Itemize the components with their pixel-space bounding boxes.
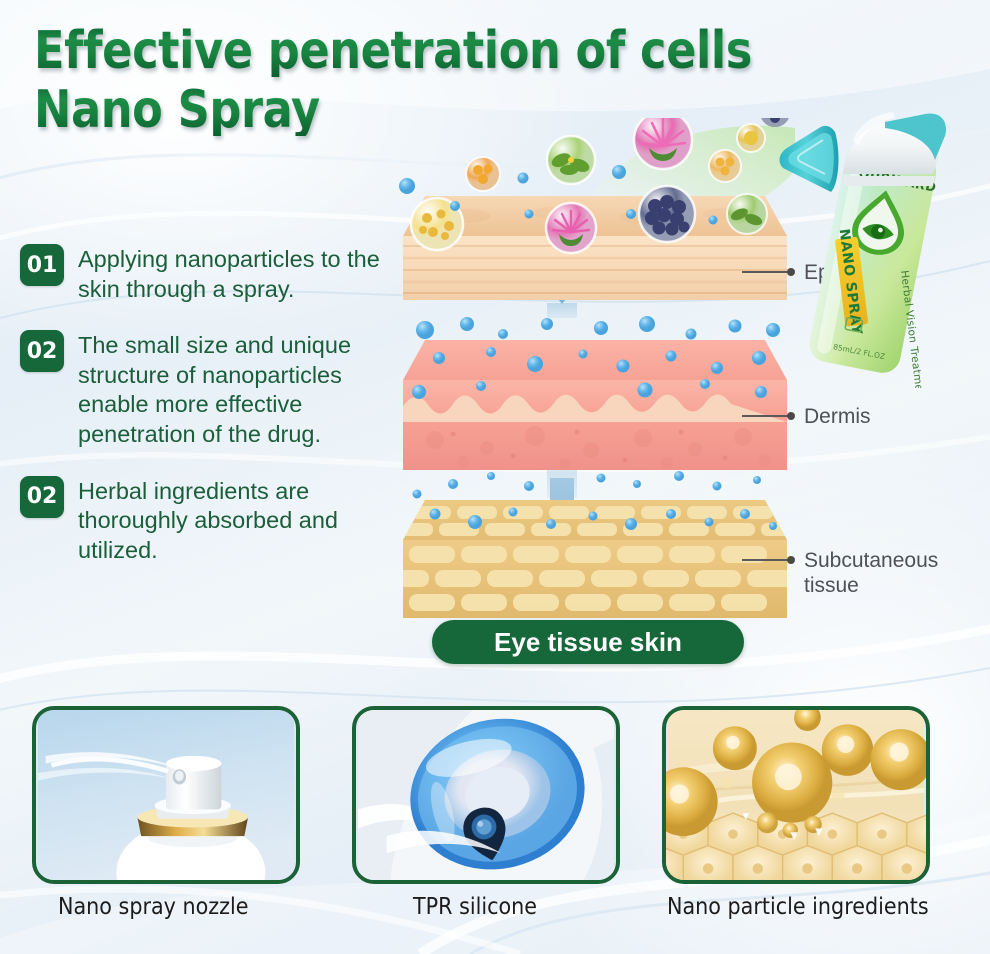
thumbnail-tpr-silicone[interactable] — [352, 706, 620, 884]
infographic-canvas: Effective penetration of cells Nano Spra… — [0, 0, 990, 954]
list-item: 02 Herbal ingredients are thoroughly abs… — [20, 476, 412, 566]
label-subcutaneous-tissue: Subcutaneous tissue — [742, 548, 938, 598]
list-item: 02 The small size and unique structure o… — [20, 330, 412, 449]
thumbnail-nano-spray-nozzle[interactable] — [32, 706, 300, 884]
leader-dot — [787, 412, 795, 420]
step-text: Herbal ingredients are thoroughly absorb… — [78, 476, 412, 566]
banner-label: Eye tissue skin — [494, 627, 682, 658]
steps-list: 01 Applying nanoparticles to the skin th… — [20, 244, 412, 591]
leader-line — [742, 415, 788, 417]
nano-spray-bottle: OURLYARD ® Herbal Vision Treatment NANO … — [735, 88, 990, 388]
eye-tissue-skin-banner: Eye tissue skin — [432, 620, 744, 664]
list-item: 01 Applying nanoparticles to the skin th… — [20, 244, 412, 304]
silicone-eye-cup-photo — [356, 710, 616, 880]
leader-dot — [787, 556, 795, 564]
thumbnail-caption: Nano spray nozzle — [58, 894, 248, 920]
thumbnail-caption: TPR silicone — [413, 894, 537, 920]
step-number-badge: 02 — [20, 330, 64, 372]
product-photo-row: Nano spray nozzle TPR silicone Nano part… — [0, 706, 990, 954]
step-text: Applying nanoparticles to the skin throu… — [78, 244, 412, 304]
step-number-badge: 02 — [20, 476, 64, 518]
spray-nozzle-photo — [36, 710, 296, 880]
golden-droplets-photo — [666, 710, 926, 880]
label-dermis: Dermis — [742, 404, 871, 429]
leader-label-text: Subcutaneous tissue — [804, 548, 938, 598]
thumbnail-caption: Nano particle ingredients — [667, 894, 929, 920]
title-line-1: Effective penetration of cells — [34, 26, 752, 77]
leader-label-text: Dermis — [804, 404, 871, 429]
step-text: The small size and unique structure of n… — [78, 330, 412, 449]
leader-line — [742, 559, 788, 561]
step-number-badge: 01 — [20, 244, 64, 286]
layer-dermis — [403, 340, 787, 470]
thumbnail-nano-particle-ingredients[interactable] — [662, 706, 930, 884]
